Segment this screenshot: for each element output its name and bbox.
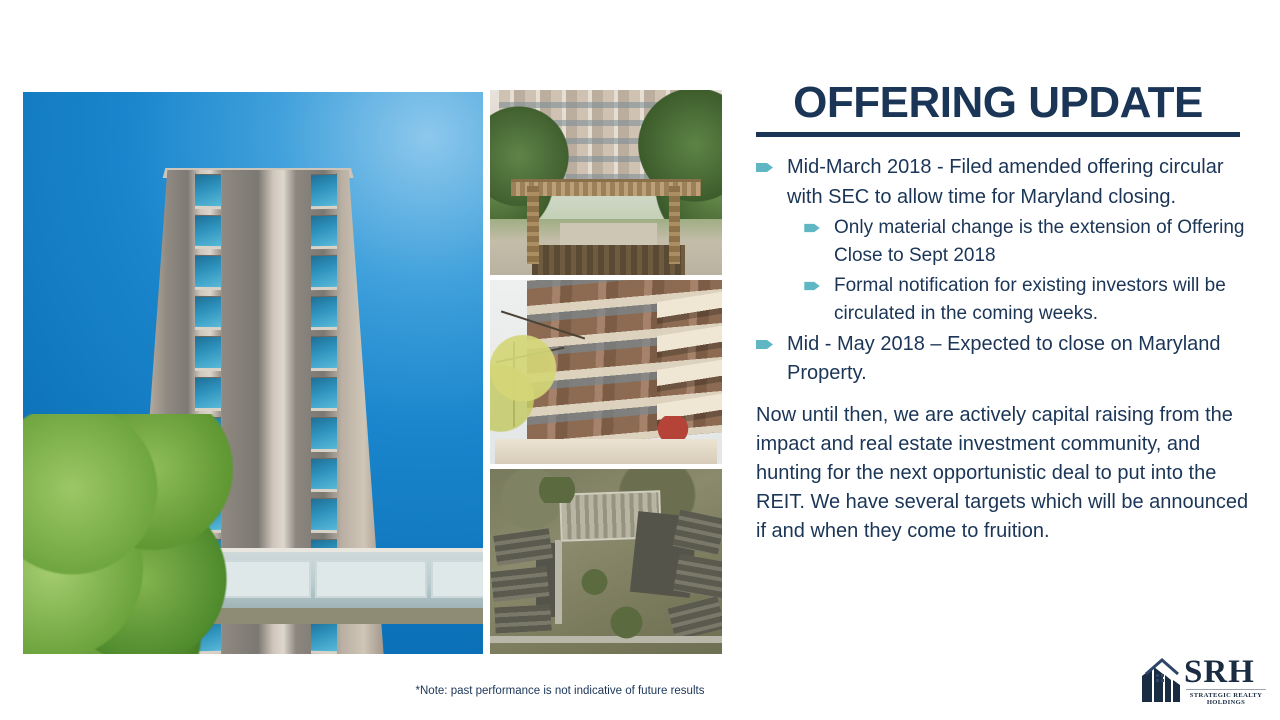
list-item-label: Only material change is the extension of… [834,214,1254,270]
list-item-label: Mid - May 2018 – Expected to close on Ma… [787,330,1254,389]
list-item-label: Formal notification for existing investo… [834,272,1254,328]
logo-subtitle: STRATEGIC REALTY HOLDINGS [1186,689,1266,706]
logo-initials: SRH [1184,656,1255,689]
pennant-bullet-icon [804,281,820,291]
list-item-label: Mid-March 2018 - Filed amended offering … [787,153,1254,212]
photo-thumbnail-column [490,90,722,654]
bullet-list: Mid-March 2018 - Filed amended offering … [742,153,1254,388]
srh-logo: SRH STRATEGIC REALTY HOLDINGS [1140,656,1266,704]
slide-root: OFFERING UPDATE Mid-March 2018 - Filed a… [0,0,1280,720]
footnote-text: *Note: past performance is not indicativ… [416,685,705,697]
aerial-property-photo [490,469,722,654]
brick-highrise-balconies-photo [490,280,722,465]
foreground-tree [23,414,247,654]
pennant-bullet-icon [756,162,773,173]
body-paragraph: Now until then, we are actively capital … [756,401,1252,545]
pennant-bullet-icon [804,223,820,233]
list-item: Formal notification for existing investo… [742,272,1254,328]
list-item: Mid-March 2018 - Filed amended offering … [742,153,1254,212]
page-title: OFFERING UPDATE [756,70,1240,137]
list-item: Only material change is the extension of… [742,214,1254,270]
apartment-tower-low-angle-photo [23,92,483,654]
list-item: Mid - May 2018 – Expected to close on Ma… [742,330,1254,389]
footnote: *Note: past performance is not indicativ… [0,685,1280,697]
pennant-bullet-icon [756,339,773,350]
pergola-courtyard-photo [490,90,722,275]
house-buildings-icon [1140,656,1188,707]
slide-content: OFFERING UPDATE Mid-March 2018 - Filed a… [742,70,1254,545]
